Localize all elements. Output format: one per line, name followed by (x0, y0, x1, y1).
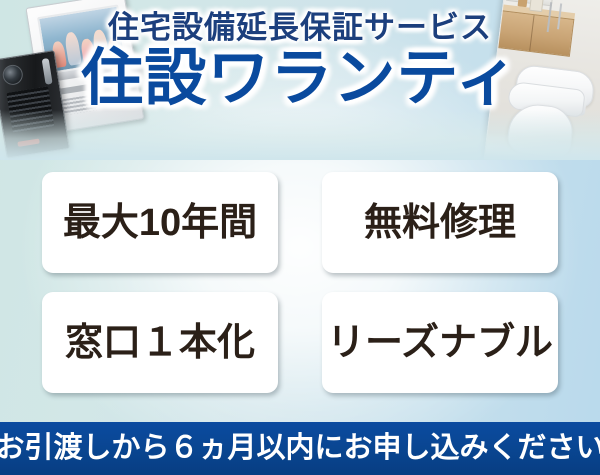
feature-card: 最大10年間 (42, 172, 278, 273)
intercom-call-button (17, 139, 40, 147)
video-intercom-photo (0, 0, 155, 159)
feature-card-grid: 最大10年間 無料修理 窓口１本化 リーズナブル (42, 172, 558, 393)
intercom-side-strip (42, 58, 53, 85)
feature-card: 窓口１本化 (42, 292, 278, 393)
counter-jar (518, 0, 528, 7)
feature-card-label: リーズナブル (327, 324, 553, 362)
counter-jar (529, 0, 544, 12)
intercom-outdoor-grille (7, 86, 55, 132)
feature-card: リーズナブル (322, 292, 558, 393)
service-banner: 住宅設備延長保証サービス 住設ワランティ 最大10年間 無料修理 窓口１本化 リ… (0, 0, 600, 475)
deadline-footer-bar: お引渡しから６ヵ月以内にお申し込みください (0, 422, 600, 475)
header-photo-strip (0, 0, 600, 160)
feature-card-label: 窓口１本化 (65, 324, 255, 362)
feature-card-label: 最大10年間 (63, 204, 257, 242)
toilet-bathroom-photo (484, 0, 600, 160)
feature-card: 無料修理 (322, 172, 558, 273)
feature-card-label: 無料修理 (364, 204, 516, 242)
wall-cabinet (494, 10, 574, 57)
intercom-camera-lens (1, 63, 24, 86)
deadline-footer-text: お引渡しから６ヵ月以内にお申し込みください (0, 434, 600, 463)
